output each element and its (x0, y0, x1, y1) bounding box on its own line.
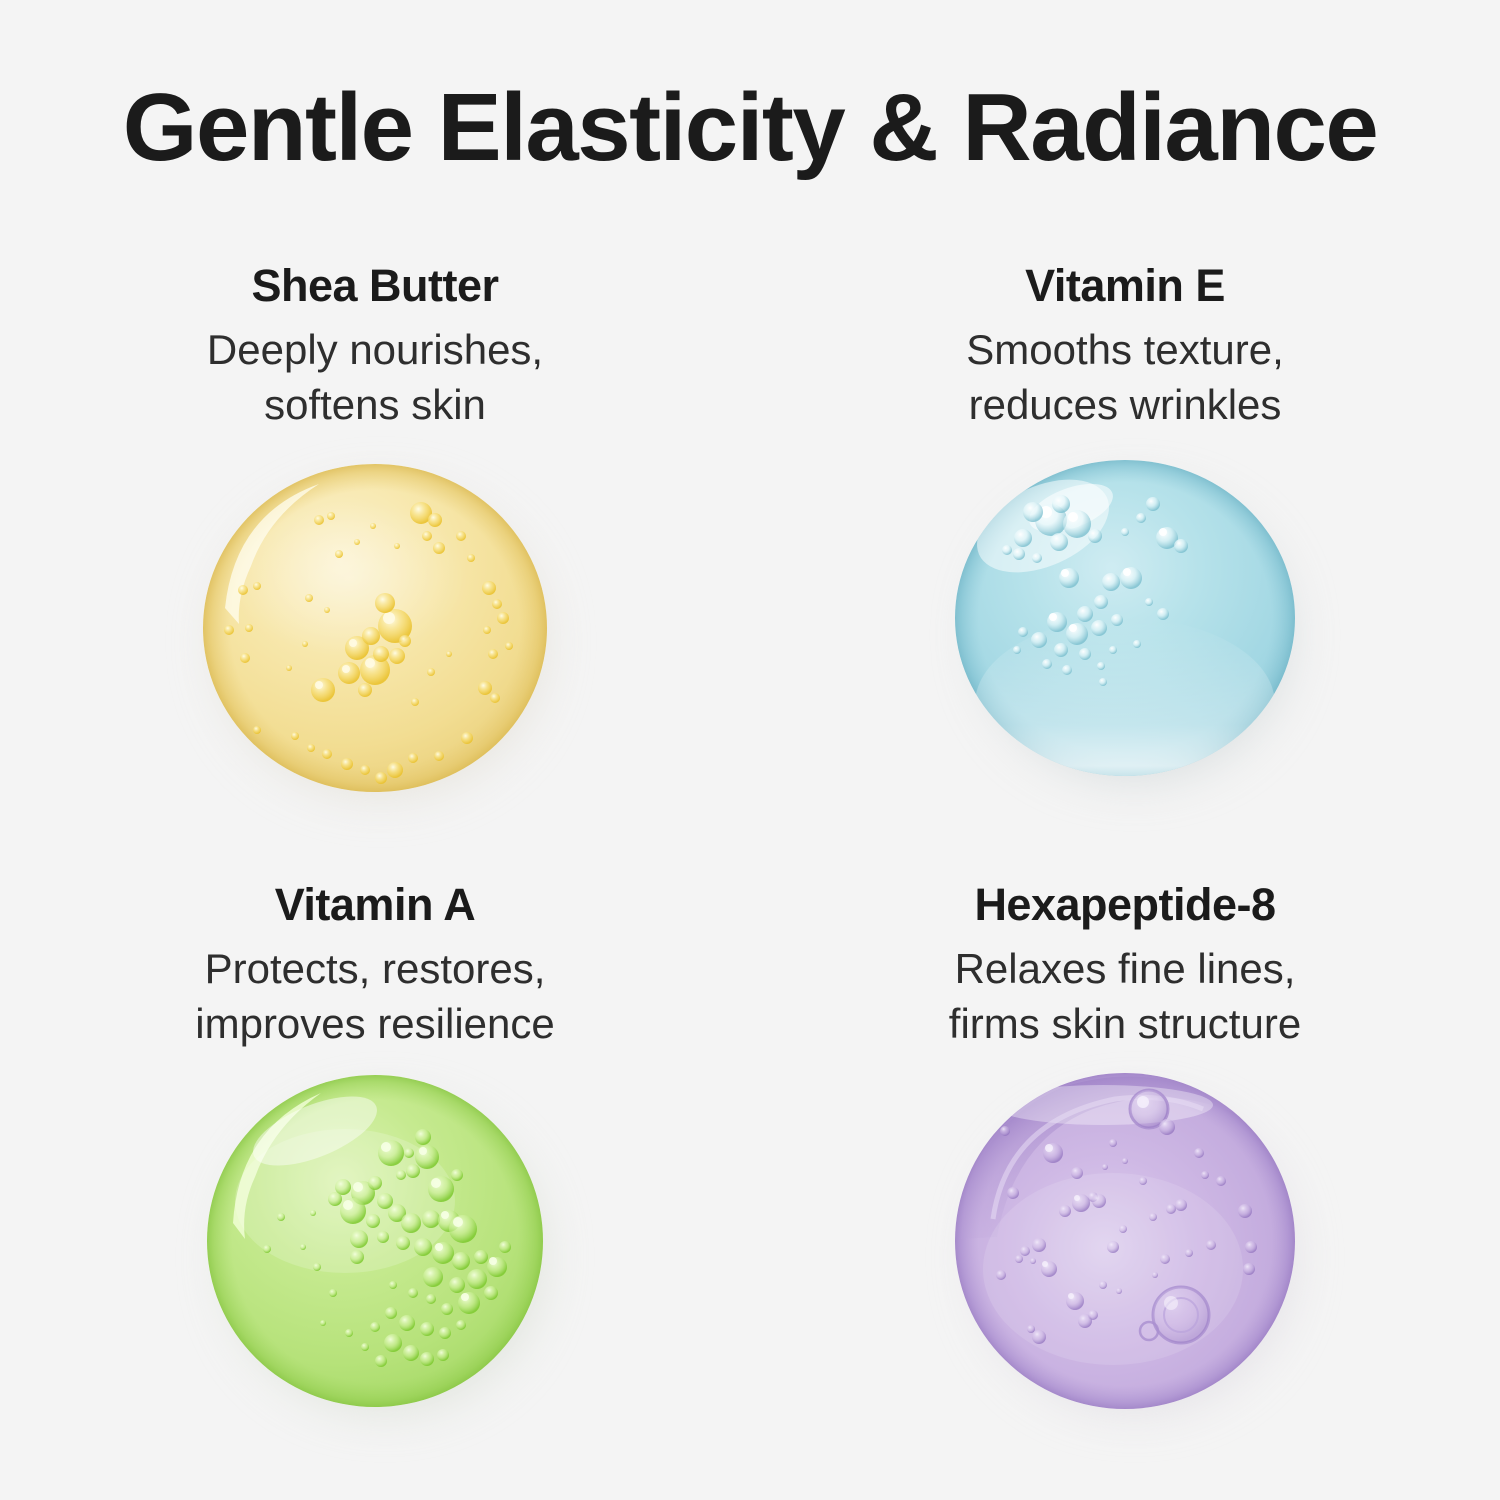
card-description-line-1: Deeply nourishes, (207, 323, 543, 378)
ingredient-grid: Shea Butter Deeply nourishes, softens sk… (0, 262, 1500, 1500)
card-title: Vitamin E (1025, 262, 1225, 309)
card-description-line-2: softens skin (264, 378, 486, 433)
card-description-line-1: Protects, restores, (205, 942, 546, 997)
swatch-wrap-yellow-gel-droplet (199, 458, 551, 798)
card-title: Shea Butter (251, 262, 498, 309)
yellow-gel-droplet (199, 458, 551, 798)
card-description-line-1: Relaxes fine lines, (955, 942, 1296, 997)
card-title: Hexapeptide-8 (974, 881, 1275, 928)
ingredient-card-vitamin-a: Vitamin A Protects, restores, improves r… (0, 881, 750, 1500)
swatch-wrap-blue-gel-droplet (951, 454, 1299, 782)
green-gel-droplet (205, 1071, 545, 1411)
swatch-wrap-purple-gel-droplet (953, 1069, 1298, 1414)
purple-gel-droplet (953, 1069, 1298, 1414)
page-title: Gentle Elasticity & Radiance (0, 78, 1500, 179)
ingredient-card-shea-butter: Shea Butter Deeply nourishes, softens sk… (0, 262, 750, 881)
card-description-line-2: reduces wrinkles (969, 378, 1282, 433)
ingredient-card-vitamin-e: Vitamin E Smooths texture, reduces wrink… (750, 262, 1500, 881)
ingredient-card-hexapeptide-8: Hexapeptide-8 Relaxes fine lines, firms … (750, 881, 1500, 1500)
card-title: Vitamin A (275, 881, 476, 928)
card-description-line-2: firms skin structure (949, 997, 1301, 1052)
blue-gel-droplet (951, 454, 1299, 782)
card-description-line-2: improves resilience (195, 997, 554, 1052)
swatch-wrap-green-gel-droplet (205, 1071, 545, 1411)
card-description-line-1: Smooths texture, (966, 323, 1283, 378)
